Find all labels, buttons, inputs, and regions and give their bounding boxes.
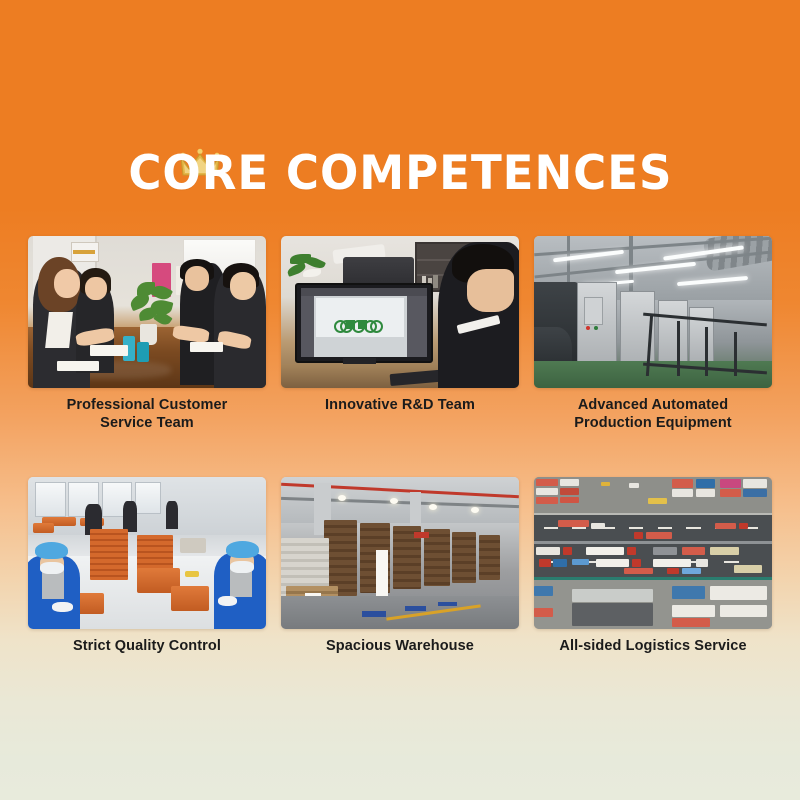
competence-card-innovative-rd-team[interactable]: Innovative R&D Team xyxy=(281,236,519,432)
caption-all-sided-logistics-service: All-sided Logistics Service xyxy=(534,638,772,656)
caption-advanced-automated-production-equipment: Advanced Automated Production Equipment xyxy=(534,397,772,432)
caption-professional-customer-service-team: Professional Customer Service Team xyxy=(28,397,266,432)
caption-innovative-rd-team: Innovative R&D Team xyxy=(281,397,519,415)
photo-spacious-warehouse xyxy=(281,477,519,629)
page-title-block: CORE COMPETENCES xyxy=(0,146,800,202)
competence-card-strict-quality-control[interactable]: Strict Quality Control xyxy=(28,477,266,656)
page-title: CORE COMPETENCES xyxy=(128,146,672,202)
competence-row-2: Strict Quality Control xyxy=(28,477,773,656)
competence-card-all-sided-logistics-service[interactable]: All-sided Logistics Service xyxy=(534,477,772,656)
competence-grid: Professional Customer Service Team xyxy=(28,236,773,656)
photo-all-sided-logistics-service xyxy=(534,477,772,629)
photo-strict-quality-control xyxy=(28,477,266,629)
photo-innovative-rd-team xyxy=(281,236,519,388)
photo-advanced-automated-production-equipment xyxy=(534,236,772,388)
competence-row-1: Professional Customer Service Team xyxy=(28,236,773,432)
competence-card-spacious-warehouse[interactable]: Spacious Warehouse xyxy=(281,477,519,656)
caption-strict-quality-control: Strict Quality Control xyxy=(28,638,266,656)
photo-professional-customer-service-team xyxy=(28,236,266,388)
core-competences-banner: CORE COMPETENCES xyxy=(0,0,800,800)
competence-card-advanced-automated-production-equipment[interactable]: Advanced Automated Production Equipment xyxy=(534,236,772,432)
competence-card-professional-customer-service-team[interactable]: Professional Customer Service Team xyxy=(28,236,266,432)
caption-spacious-warehouse: Spacious Warehouse xyxy=(281,638,519,656)
